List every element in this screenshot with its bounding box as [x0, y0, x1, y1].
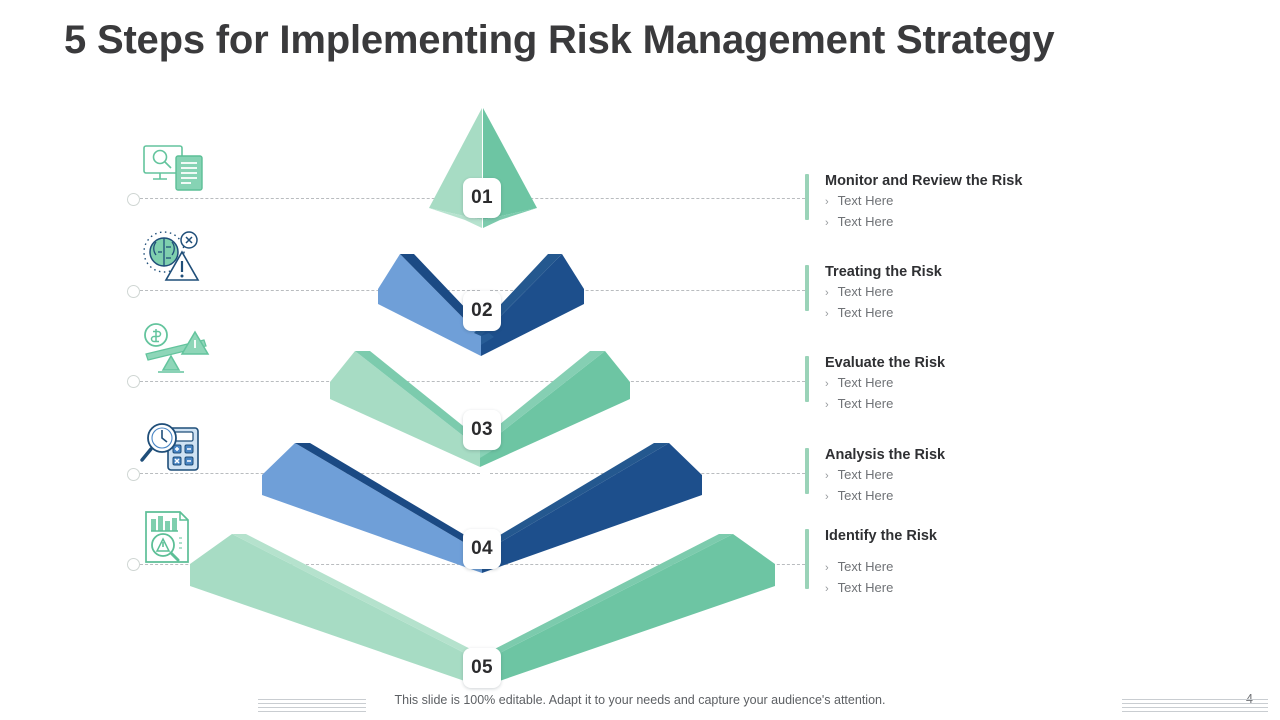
step-bullet-text: Text Here	[838, 487, 894, 505]
step-bullet-2-1: › Text Here	[825, 283, 1125, 302]
balance-scale-coin-icon	[138, 322, 210, 384]
footer-decoration-right	[1122, 699, 1268, 713]
accent-bar-4	[805, 448, 809, 494]
calculator-magnifier-icon	[138, 416, 210, 478]
chevron-right-icon: ›	[825, 580, 829, 598]
step-heading-2: Treating the Risk	[825, 263, 1125, 281]
chevron-right-icon: ›	[825, 488, 829, 506]
step-heading-3: Evaluate the Risk	[825, 354, 1125, 372]
chevron-right-icon: ›	[825, 467, 829, 485]
accent-bar-2	[805, 265, 809, 311]
step-bullet-text: Text Here	[838, 213, 894, 231]
footer-note: This slide is 100% editable. Adapt it to…	[0, 693, 1280, 707]
chevron-right-icon: ›	[825, 375, 829, 393]
step-bullet-text: Text Here	[838, 558, 894, 576]
step-bullet-3-2: › Text Here	[825, 395, 1125, 414]
step-bullet-text: Text Here	[838, 579, 894, 597]
chevron-right-icon: ›	[825, 396, 829, 414]
step-text-block-2: Treating the Risk › Text Here › Text Her…	[805, 263, 1125, 323]
step-bullet-1-1: › Text Here	[825, 192, 1125, 211]
step-bullet-text: Text Here	[838, 395, 894, 413]
step-text-block-4: Analysis the Risk › Text Here › Text Her…	[805, 446, 1125, 506]
step-bullet-text: Text Here	[838, 192, 894, 210]
step-badge-5[interactable]: 05	[463, 648, 501, 688]
step-bullet-4-1: › Text Here	[825, 466, 1125, 485]
step-badge-1[interactable]: 01	[463, 178, 501, 218]
step-bullet-3-1: › Text Here	[825, 374, 1125, 393]
step-bullet-text: Text Here	[838, 304, 894, 322]
step-badge-4[interactable]: 04	[463, 529, 501, 569]
step-heading-1: Monitor and Review the Risk	[825, 172, 1125, 190]
step-bullet-text: Text Here	[838, 374, 894, 392]
step-badge-2[interactable]: 02	[463, 291, 501, 331]
step-text-block-5: Identify the Risk › Text Here › Text Her…	[805, 527, 1125, 598]
connector-line-right-1	[490, 198, 805, 199]
chevron-right-icon: ›	[825, 214, 829, 232]
monitor-search-document-icon	[138, 142, 210, 204]
chevron-right-icon: ›	[825, 559, 829, 577]
chevron-right-icon: ›	[825, 305, 829, 323]
step-bullet-2-2: › Text Here	[825, 304, 1125, 323]
step-heading-4: Analysis the Risk	[825, 446, 1125, 464]
chevron-right-icon: ›	[825, 284, 829, 302]
brain-warning-icon	[138, 228, 210, 290]
footer-decoration-left	[258, 699, 366, 713]
report-magnifier-warning-icon	[138, 508, 210, 570]
step-text-block-1: Monitor and Review the Risk › Text Here …	[805, 172, 1125, 232]
step-badge-3[interactable]: 03	[463, 410, 501, 450]
step-bullet-4-2: › Text Here	[825, 487, 1125, 506]
step-heading-5: Identify the Risk	[825, 527, 1125, 545]
accent-bar-5	[805, 529, 809, 589]
chevron-right-icon: ›	[825, 193, 829, 211]
accent-bar-3	[805, 356, 809, 402]
accent-bar-1	[805, 174, 809, 220]
inverted-pyramid-diagram: 01 02 03 04 05	[0, 0, 1280, 720]
step-bullet-text: Text Here	[838, 466, 894, 484]
step-bullet-5-1: › Text Here	[825, 558, 1125, 577]
step-bullet-1-2: › Text Here	[825, 213, 1125, 232]
step-text-block-3: Evaluate the Risk › Text Here › Text Her…	[805, 354, 1125, 414]
step-bullet-5-2: › Text Here	[825, 579, 1125, 598]
step-bullet-text: Text Here	[838, 283, 894, 301]
